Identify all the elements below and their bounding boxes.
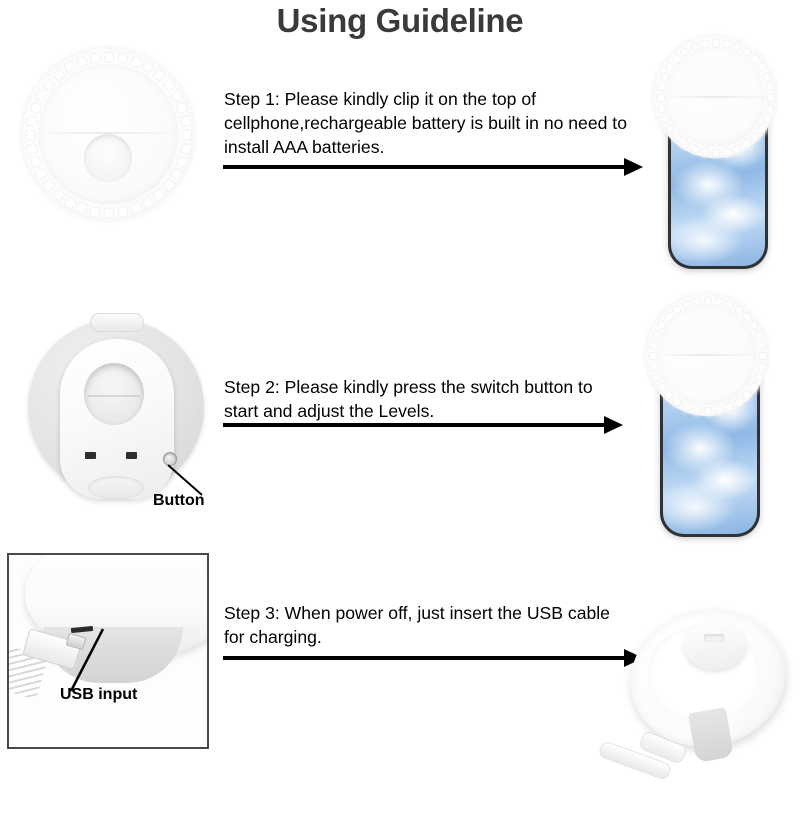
led-bead bbox=[76, 202, 89, 215]
ring-light-charging-with-usb-cable bbox=[626, 606, 796, 786]
led-bead bbox=[90, 52, 102, 64]
led-bead bbox=[682, 402, 692, 412]
led-bead bbox=[660, 72, 670, 82]
led-bead bbox=[756, 123, 767, 134]
led-bead bbox=[26, 116, 38, 128]
led-bead bbox=[52, 188, 66, 202]
led-bead bbox=[170, 89, 184, 103]
led-bead bbox=[170, 167, 184, 181]
led-bead bbox=[660, 114, 670, 124]
led-bead bbox=[732, 144, 742, 154]
led-bead bbox=[741, 138, 752, 149]
led-bead-ring bbox=[654, 36, 776, 158]
led-bead bbox=[657, 104, 666, 113]
led-bead-ring bbox=[646, 294, 768, 416]
led-bead bbox=[672, 396, 683, 407]
led-bead bbox=[724, 300, 734, 310]
ring-light-clipped-on-phone-step-2 bbox=[646, 294, 768, 416]
led-bead bbox=[162, 78, 176, 92]
led-bead bbox=[657, 320, 668, 331]
led-bead bbox=[42, 78, 56, 92]
led-bead bbox=[714, 297, 723, 306]
led-bead bbox=[765, 104, 774, 113]
led-bead-ring bbox=[22, 48, 194, 220]
led-bead bbox=[141, 196, 155, 210]
ring-light-back-view bbox=[26, 313, 206, 508]
led-bead bbox=[704, 407, 712, 415]
led-bead bbox=[682, 300, 692, 310]
led-bead bbox=[76, 55, 89, 68]
led-bead-ring bbox=[617, 594, 800, 762]
arrow-head-icon bbox=[624, 158, 643, 176]
led-bead bbox=[733, 396, 744, 407]
led-bead bbox=[176, 102, 189, 115]
led-bead bbox=[657, 94, 665, 102]
usb-port-closeup-photo bbox=[7, 553, 209, 749]
clip-top-tab bbox=[90, 313, 144, 332]
step-3-arrow bbox=[223, 649, 643, 667]
led-bead bbox=[152, 188, 166, 202]
contact-pad-left bbox=[85, 452, 96, 459]
step-1-arrow bbox=[223, 158, 643, 176]
led-bead bbox=[671, 53, 682, 64]
led-bead bbox=[180, 116, 192, 128]
led-bead bbox=[117, 206, 129, 218]
led-bead bbox=[762, 114, 772, 124]
led-bead bbox=[162, 178, 176, 192]
led-bead bbox=[704, 297, 712, 305]
button-callout-label: Button bbox=[153, 492, 205, 510]
led-bead bbox=[712, 149, 720, 157]
led-bead bbox=[722, 147, 731, 156]
led-bead bbox=[129, 55, 142, 68]
led-bead bbox=[690, 42, 700, 52]
led-bead bbox=[129, 202, 142, 215]
led-bead bbox=[652, 372, 662, 382]
step-2-arrow bbox=[223, 416, 623, 434]
led-bead bbox=[661, 821, 669, 829]
led-bead bbox=[701, 147, 710, 156]
page-title: Using Guideline bbox=[0, 2, 800, 40]
led-bead bbox=[141, 61, 155, 75]
led-bead bbox=[693, 405, 702, 414]
led-bead bbox=[680, 47, 691, 58]
led-bead bbox=[182, 130, 192, 140]
led-bead bbox=[680, 138, 691, 149]
led-bead bbox=[42, 178, 56, 192]
led-bead bbox=[765, 83, 774, 92]
led-bead bbox=[29, 155, 42, 168]
clip-foot-pad bbox=[88, 476, 144, 500]
step-3-text: Step 3: When power off, just insert the … bbox=[224, 601, 624, 649]
led-bead bbox=[649, 341, 658, 350]
led-bead bbox=[663, 311, 674, 322]
step-1-text: Step 1: Please kindly clip it on the top… bbox=[224, 87, 636, 159]
led-bead bbox=[672, 305, 683, 316]
led-bead bbox=[649, 362, 658, 371]
led-bead bbox=[26, 130, 36, 140]
led-bead bbox=[748, 320, 759, 331]
led-bead bbox=[757, 362, 766, 371]
clip-center-aperture bbox=[84, 363, 144, 425]
ring-light-front-view bbox=[22, 48, 194, 220]
led-bead bbox=[701, 39, 710, 48]
led-bead bbox=[759, 352, 767, 360]
led-bead bbox=[180, 143, 192, 155]
led-bead bbox=[757, 341, 766, 350]
arrow-shaft bbox=[223, 423, 605, 427]
led-bead bbox=[693, 297, 702, 306]
led-bead bbox=[35, 167, 49, 181]
led-bead bbox=[35, 89, 49, 103]
led-bead bbox=[762, 72, 772, 82]
led-bead bbox=[26, 143, 38, 155]
arrow-shaft bbox=[223, 165, 625, 169]
led-bead bbox=[690, 144, 700, 154]
led-bead bbox=[649, 352, 657, 360]
led-bead bbox=[722, 39, 731, 48]
led-bead bbox=[104, 52, 114, 62]
led-bead bbox=[152, 68, 166, 82]
led-bead bbox=[63, 196, 77, 210]
contact-pad-right bbox=[126, 452, 137, 459]
arrow-head-icon bbox=[604, 416, 623, 434]
led-bead bbox=[52, 68, 66, 82]
led-bead bbox=[176, 155, 189, 168]
led-bead bbox=[749, 131, 760, 142]
led-bead bbox=[117, 52, 129, 64]
led-bead bbox=[714, 405, 723, 414]
led-bead bbox=[748, 381, 759, 392]
led-bead bbox=[732, 42, 742, 52]
led-bead bbox=[90, 206, 102, 218]
led-bead bbox=[767, 94, 775, 102]
led-bead bbox=[63, 61, 77, 75]
led-bead bbox=[104, 208, 114, 218]
led-bead bbox=[754, 330, 764, 340]
led-bead bbox=[652, 330, 662, 340]
ring-light-clipped-on-phone-step-1 bbox=[654, 36, 776, 158]
led-bead bbox=[29, 102, 42, 115]
usb-leader-line bbox=[61, 625, 107, 695]
led-bead bbox=[756, 62, 767, 73]
arrow-shaft bbox=[223, 656, 625, 660]
led-bead bbox=[741, 389, 752, 400]
led-bead bbox=[724, 402, 734, 412]
led-bead bbox=[665, 62, 676, 73]
led-bead bbox=[657, 83, 666, 92]
led-bead bbox=[712, 39, 720, 47]
led-bead bbox=[754, 372, 764, 382]
usb-callout-label: USB input bbox=[60, 686, 137, 704]
